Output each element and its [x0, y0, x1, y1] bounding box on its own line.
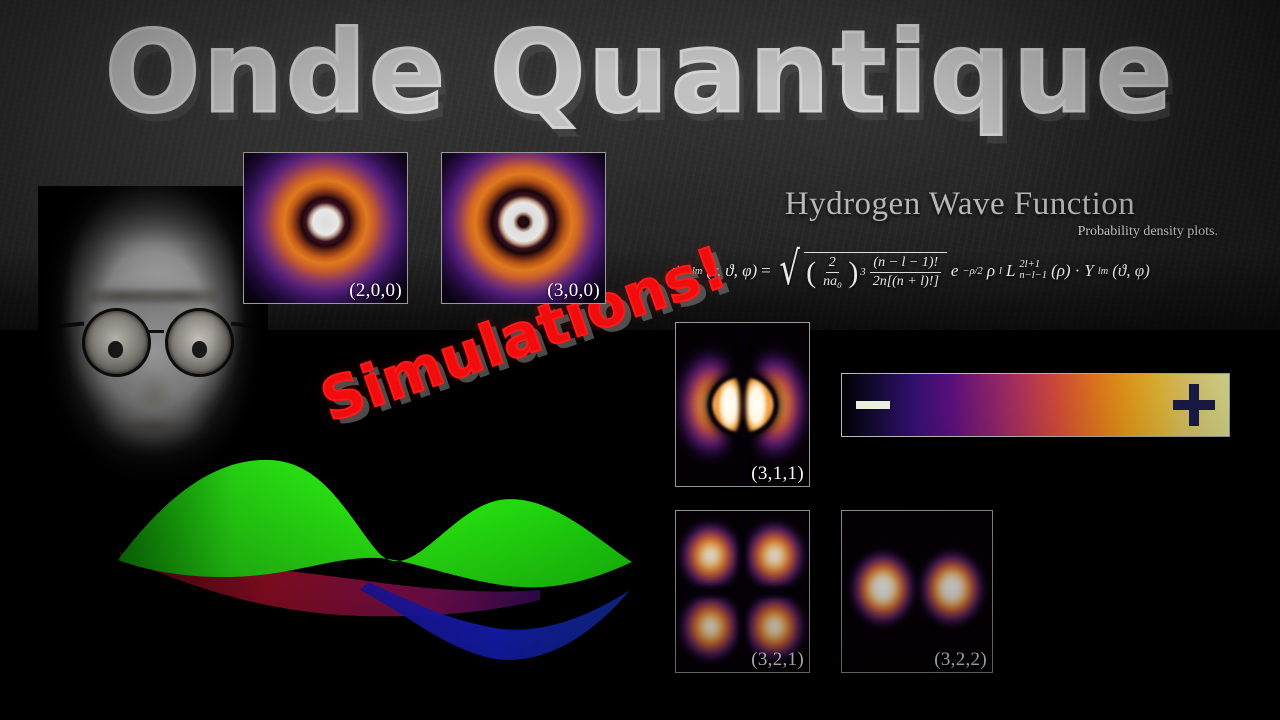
orbital-321-lobe-top-right	[744, 522, 805, 590]
orbital-label-300: (3,0,0)	[547, 280, 600, 302]
formula-exponential: e	[951, 261, 959, 281]
orbital-panel-321[interactable]: (3,2,1)	[675, 510, 810, 673]
wave-packet-svg	[110, 440, 640, 685]
formula-rho: ρ	[987, 261, 995, 281]
formula-rho-power: l	[999, 266, 1002, 277]
orbital-label-322: (3,2,2)	[934, 649, 987, 671]
orbital-311-nodal-plane	[738, 323, 747, 486]
formula-dot: ·	[1075, 261, 1081, 281]
orbital-plot-311	[676, 323, 809, 486]
wave-packet-visualization	[110, 440, 640, 685]
fraction-2-numerator: (n − l − 1)!	[870, 255, 941, 273]
formula-fraction-2: (n − l − 1)! 2n[(n + l)!]	[870, 255, 942, 290]
fraction-1-denominator: na0	[820, 273, 844, 290]
orbital-321-lobe-bottom-left	[680, 593, 741, 661]
orbital-322-blob-left	[850, 550, 916, 627]
orbital-panel-311[interactable]: (3,1,1)	[675, 322, 810, 487]
colorbar-minus-icon	[856, 401, 890, 409]
hydrogen-heading-block: Hydrogen Wave Function Probability densi…	[690, 186, 1230, 240]
wave-envelope	[118, 460, 632, 587]
harmonic-args: (ϑ, φ)	[1112, 261, 1150, 281]
formula-laguerre: L	[1006, 261, 1015, 281]
orbital-panel-300[interactable]: (3,0,0)	[441, 152, 606, 304]
paren-close: )	[848, 259, 858, 286]
formula-radical: √ ( 2 na0 )3 (n − l − 1)! 2n[(n + l)!]	[775, 252, 947, 290]
laguerre-indices: 2l+1n−l−1	[1019, 260, 1047, 281]
fraction-2-denominator: 2n[(n + l)!]	[870, 273, 942, 290]
orbital-label-200: (2,0,0)	[349, 280, 402, 302]
formula-exponential-power: −ρ/2	[962, 266, 982, 277]
orbital-plot-322	[842, 511, 992, 672]
orbital-panel-200[interactable]: (2,0,0)	[243, 152, 408, 304]
formula-power: 3	[860, 267, 865, 278]
formula-harmonic: Y	[1084, 261, 1093, 281]
orbital-plot-321	[676, 511, 809, 672]
colorbar-plus-icon	[1173, 384, 1215, 426]
paren-open: (	[806, 259, 816, 286]
fraction-1-numerator: 2	[826, 255, 839, 273]
hydrogen-wave-function-subtitle: Probability density plots.	[690, 224, 1230, 240]
video-thumbnail-canvas: Onde Quantique Hydrogen Wave Function Pr…	[0, 0, 1280, 720]
orbital-321-nodal-plane-horizontal	[676, 584, 809, 598]
formula-fraction-1: 2 na0	[820, 255, 844, 290]
wave-function-formula: ψnlm(r, ϑ, φ) = √ ( 2 na0 )3 (n − l − 1)…	[672, 252, 1232, 290]
hydrogen-wave-function-title: Hydrogen Wave Function	[690, 186, 1230, 223]
radical-sign: √	[779, 250, 800, 288]
orbital-322-blob-right	[919, 550, 985, 627]
radical-content: ( 2 na0 )3 (n − l − 1)! 2n[(n + l)!]	[804, 252, 947, 290]
colorbar-legend	[841, 373, 1230, 437]
laguerre-arg: (ρ)	[1051, 261, 1070, 281]
harmonic-subscript: lm	[1098, 266, 1109, 277]
orbital-label-311: (3,1,1)	[751, 463, 804, 485]
formula-equals: =	[761, 261, 771, 281]
orbital-label-321: (3,2,1)	[751, 649, 804, 671]
bottom-letterbox	[0, 686, 1280, 720]
orbital-321-lobe-top-left	[680, 522, 741, 590]
orbital-panel-322[interactable]: (3,2,2)	[841, 510, 993, 673]
